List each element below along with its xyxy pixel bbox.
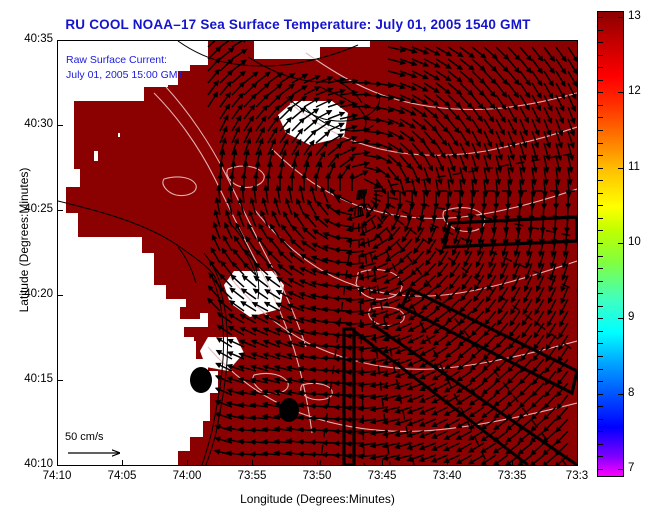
annotation-line-2: July 01, 2005 15:00 GMT bbox=[66, 68, 184, 83]
radar-site-marker-1 bbox=[190, 367, 212, 393]
y-axis-title: Latitude (Degrees:Minutes) bbox=[17, 130, 31, 350]
x-tick bbox=[382, 460, 383, 466]
colorbar-minor-tick bbox=[598, 331, 603, 332]
colorbar-minor-tick bbox=[598, 431, 603, 432]
colorbar-minor-tick bbox=[598, 281, 603, 282]
colorbar-tick-label: 11 bbox=[628, 161, 640, 173]
colorbar-minor-tick bbox=[598, 117, 603, 118]
colorbar-tick bbox=[618, 469, 624, 470]
sst-figure: RU COOL NOAA–17 Sea Surface Temperature:… bbox=[0, 0, 651, 515]
annotation-line-1: Raw Surface Current: bbox=[66, 53, 184, 68]
colorbar-minor-tick bbox=[598, 381, 603, 382]
colorbar-minor-tick bbox=[598, 143, 603, 144]
y-tick-label: 40:15 bbox=[3, 373, 53, 385]
colorbar-minor-tick bbox=[598, 168, 603, 169]
colorbar-minor-tick bbox=[598, 356, 603, 357]
current-vector bbox=[335, 298, 353, 299]
colorbar-tick-label: 9 bbox=[628, 311, 634, 323]
y-tick-label: 40:30 bbox=[3, 118, 53, 130]
colorbar-minor-tick bbox=[598, 67, 603, 68]
x-tick bbox=[512, 460, 513, 466]
x-axis-title: Longitude (Degrees:Minutes) bbox=[57, 492, 578, 506]
y-tick bbox=[57, 465, 63, 466]
x-tick-label: 74:00 bbox=[157, 470, 217, 482]
colorbar-minor-tick bbox=[598, 306, 603, 307]
velocity-scale-bar: 50 cm/s bbox=[65, 431, 135, 465]
scale-bar-arrow-icon bbox=[65, 443, 135, 461]
current-vector bbox=[335, 286, 353, 287]
colorbar-minor-tick bbox=[598, 105, 603, 106]
colorbar-minor-tick bbox=[598, 230, 603, 231]
colorbar-tick bbox=[618, 168, 624, 169]
colorbar-minor-tick bbox=[598, 218, 603, 219]
colorbar-minor-tick bbox=[598, 30, 603, 31]
colorbar-tick-label: 12 bbox=[628, 85, 641, 97]
colorbar-tick-label: 8 bbox=[628, 387, 634, 399]
y-tick-label: 40:10 bbox=[3, 458, 53, 470]
colorbar-minor-tick bbox=[598, 243, 603, 244]
colorbar-tick bbox=[618, 243, 624, 244]
colorbar-minor-tick bbox=[598, 193, 603, 194]
x-tick bbox=[317, 460, 318, 466]
colorbar-minor-tick bbox=[598, 268, 603, 269]
colorbar-minor-tick bbox=[598, 369, 603, 370]
x-tick-label: 73:40 bbox=[417, 470, 477, 482]
y-tick-label: 40:35 bbox=[3, 33, 53, 45]
colorbar-tick bbox=[618, 17, 624, 18]
colorbar-minor-tick bbox=[598, 343, 603, 344]
x-tick bbox=[447, 460, 448, 466]
colorbar-minor-tick bbox=[598, 130, 603, 131]
x-tick bbox=[187, 460, 188, 466]
current-vector bbox=[335, 274, 353, 275]
colorbar-minor-tick bbox=[598, 80, 603, 81]
radar-site-marker-2 bbox=[279, 398, 299, 422]
x-tick bbox=[577, 460, 578, 466]
sst-map-svg bbox=[58, 41, 577, 465]
raw-surface-current-annotation: Raw Surface Current: July 01, 2005 15:00… bbox=[66, 53, 184, 83]
colorbar-tick-label: 10 bbox=[628, 236, 641, 248]
colorbar-minor-tick bbox=[598, 55, 603, 56]
y-tick-label: 40:20 bbox=[3, 288, 53, 300]
y-tick bbox=[57, 380, 63, 381]
colorbar-minor-tick bbox=[598, 205, 603, 206]
colorbar-minor-tick bbox=[598, 155, 603, 156]
colorbar-tick-label: 13 bbox=[628, 10, 641, 22]
colorbar-minor-tick bbox=[598, 318, 603, 319]
y-tick bbox=[57, 295, 63, 296]
x-tick bbox=[252, 460, 253, 466]
colorbar-minor-tick bbox=[598, 256, 603, 257]
x-tick-label: 74:05 bbox=[92, 470, 152, 482]
x-tick-label: 73:45 bbox=[352, 470, 412, 482]
colorbar-minor-tick bbox=[598, 17, 603, 18]
y-tick bbox=[57, 40, 63, 41]
x-tick-label: 73:35 bbox=[482, 470, 542, 482]
map-canvas: Raw Surface Current: July 01, 2005 15:00… bbox=[58, 41, 577, 465]
x-tick-label: 74:10 bbox=[27, 470, 87, 482]
colorbar-tick bbox=[618, 394, 624, 395]
page-title: RU COOL NOAA–17 Sea Surface Temperature:… bbox=[0, 17, 596, 32]
y-tick bbox=[57, 210, 63, 211]
colorbar-minor-tick bbox=[598, 419, 603, 420]
map-plot-area[interactable]: Raw Surface Current: July 01, 2005 15:00… bbox=[57, 40, 578, 466]
colorbar-minor-tick bbox=[598, 456, 603, 457]
x-tick-label: 73:50 bbox=[287, 470, 347, 482]
x-tick-label: 73:55 bbox=[222, 470, 282, 482]
colorbar-minor-tick bbox=[598, 180, 603, 181]
scale-bar-label: 50 cm/s bbox=[65, 431, 135, 443]
colorbar-minor-tick bbox=[598, 42, 603, 43]
colorbar-minor-tick bbox=[598, 444, 603, 445]
y-tick-label: 40:25 bbox=[3, 203, 53, 215]
colorbar-tick-label: 7 bbox=[628, 462, 634, 474]
x-tick-label: 73:3 bbox=[547, 470, 607, 482]
colorbar-minor-tick bbox=[598, 394, 603, 395]
colorbar-minor-tick bbox=[598, 293, 603, 294]
colorbar-minor-tick bbox=[598, 92, 603, 93]
y-tick bbox=[57, 125, 63, 126]
colorbar-minor-tick bbox=[598, 406, 603, 407]
colorbar-tick bbox=[618, 92, 624, 93]
colorbar-tick bbox=[618, 318, 624, 319]
